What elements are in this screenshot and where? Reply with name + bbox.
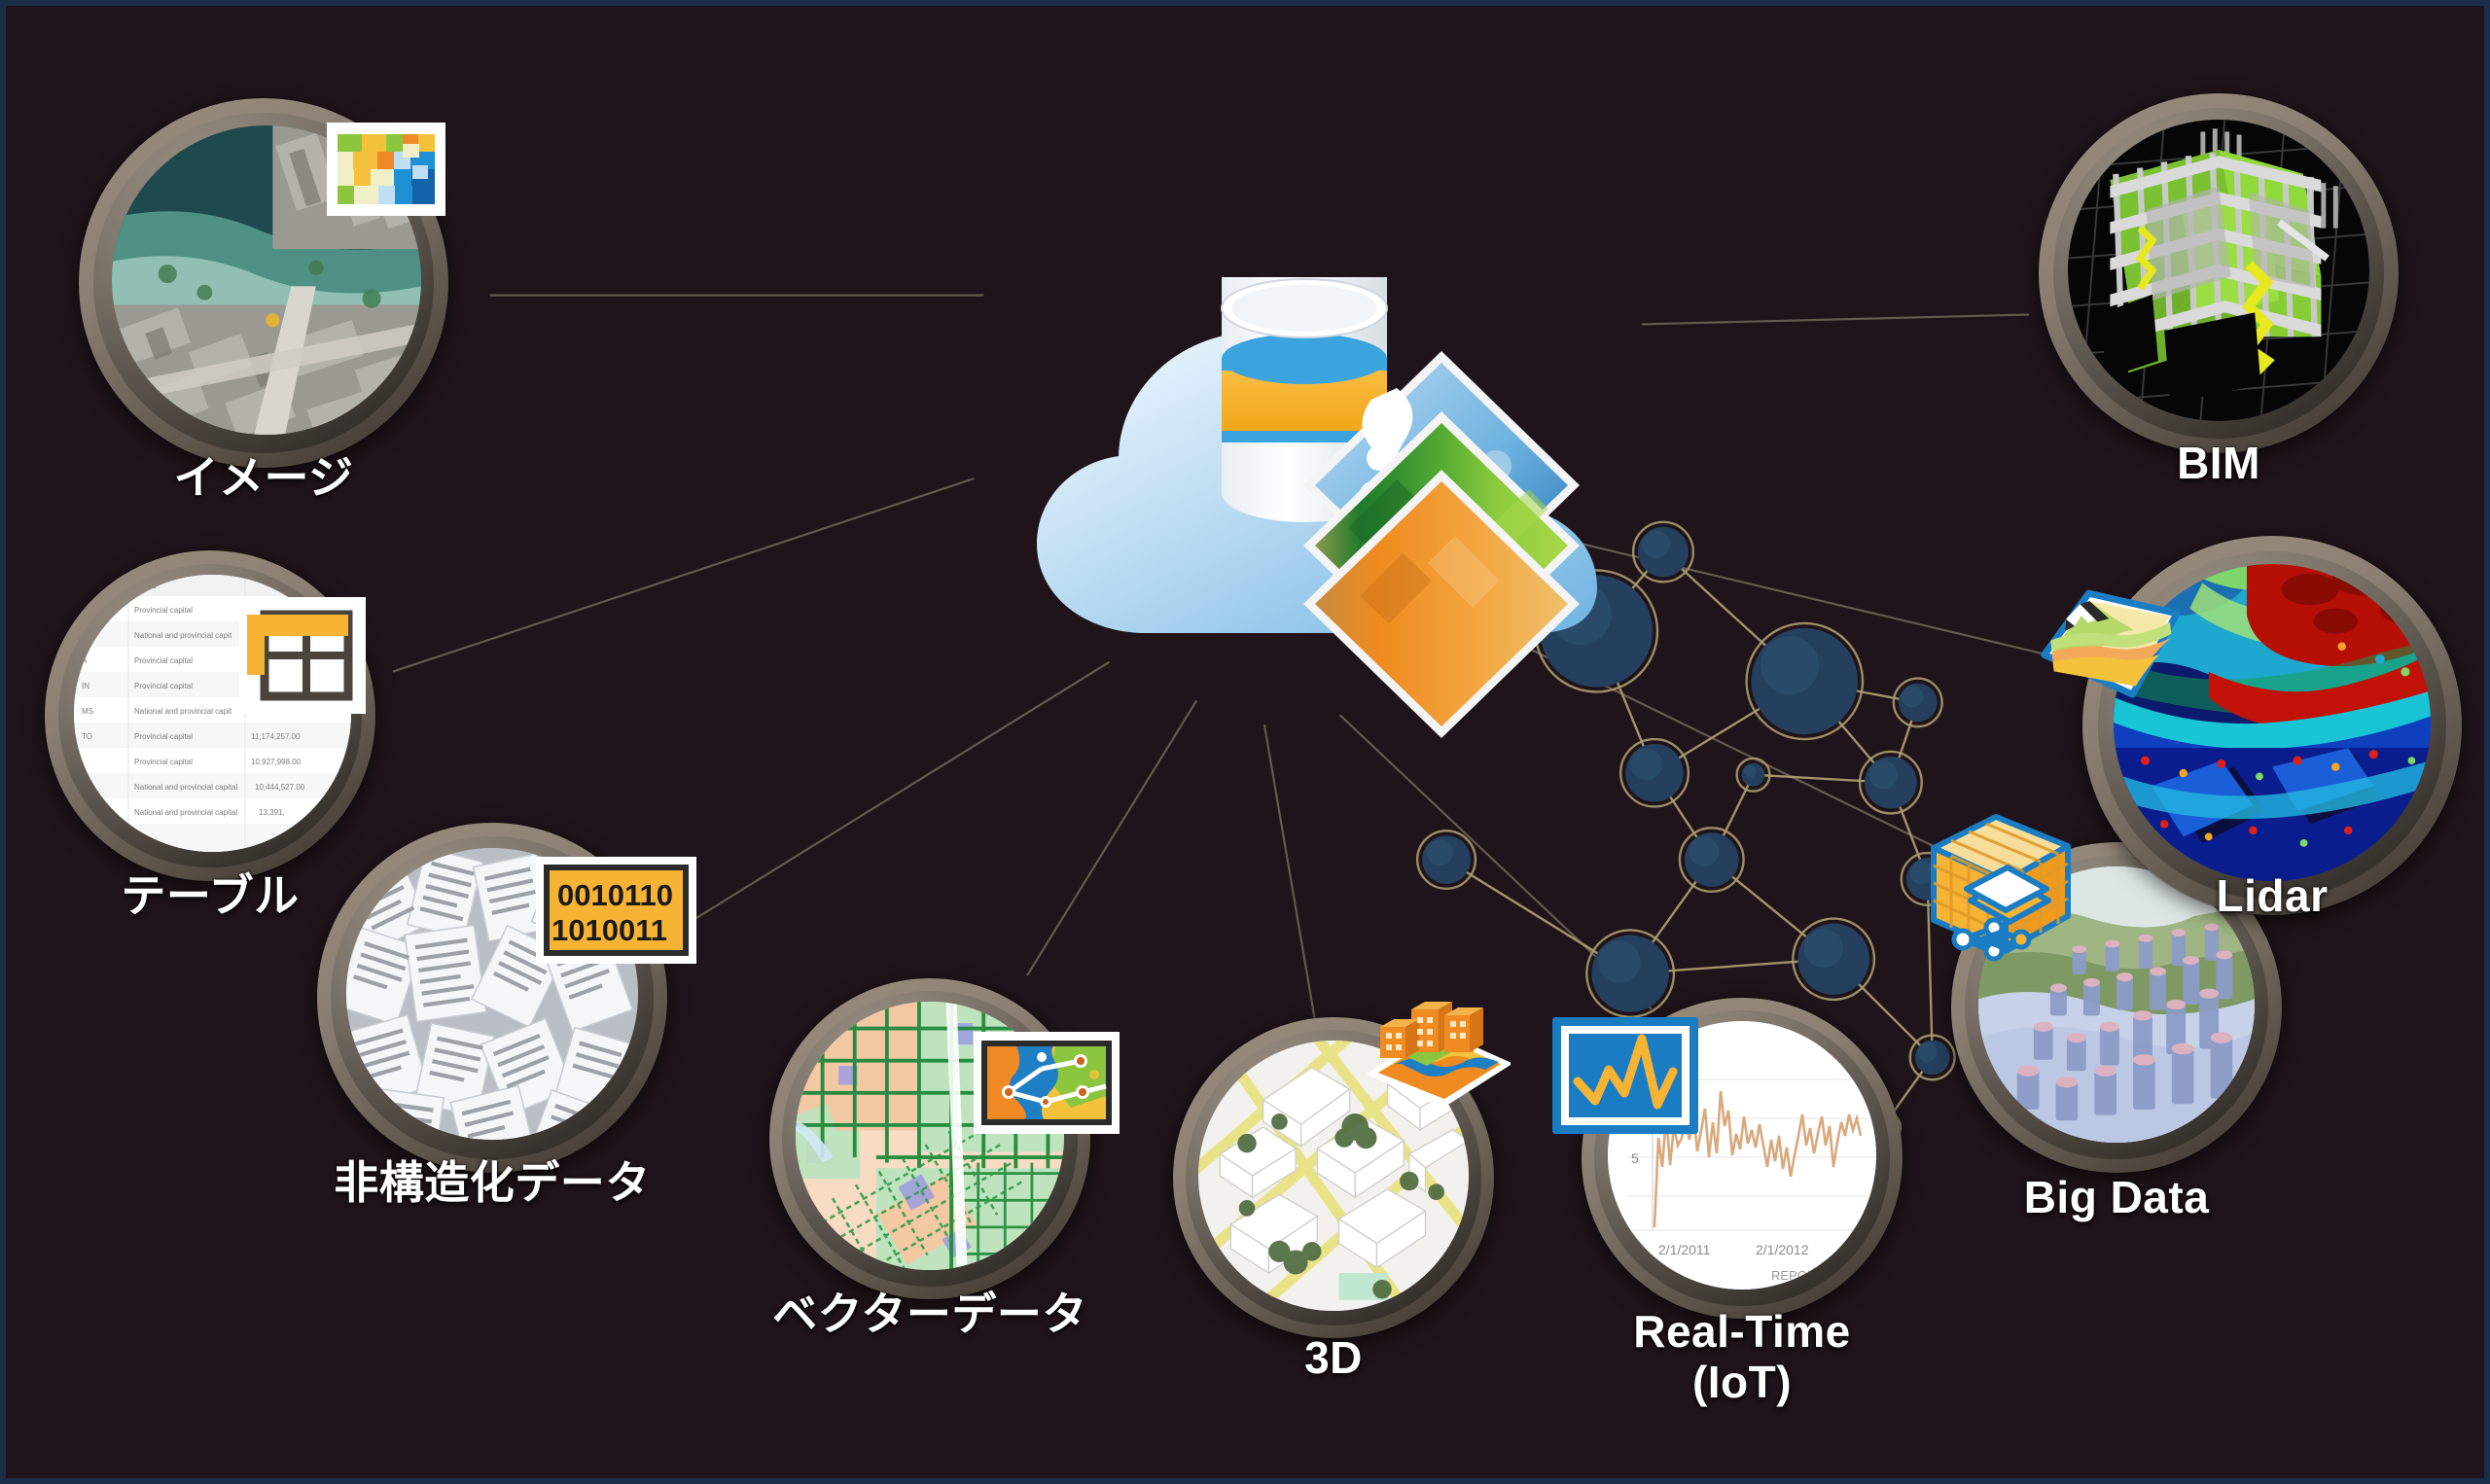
svg-text:10,927,998.00: 10,927,998.00 [251, 758, 302, 766]
svg-text:Provincial capital: Provincial capital [134, 758, 193, 766]
svg-text:MS: MS [82, 707, 93, 716]
chart-xtick-1: 2/1/2011 [1658, 1242, 1711, 1257]
svg-text:Provincial capital: Provincial capital [134, 732, 193, 741]
3d-buildings-icon [1363, 990, 1511, 1109]
svg-text:National and provincial capita: National and provincial capital [134, 783, 238, 792]
node-label-unstructured: 非構造化データ [254, 1158, 730, 1209]
node-realtime[interactable]: 15 10 5 2/1/2011 2/1/2012 2 REPORT [1582, 998, 1903, 1319]
svg-text:IN: IN [82, 682, 89, 690]
link-bim-to-cloud [1642, 314, 2029, 324]
binary-top: 0010110 [557, 878, 673, 912]
node-lidar[interactable]: Lidar [2082, 536, 2462, 915]
node-3d[interactable]: 3D [1173, 1017, 1494, 1338]
network-node-highlight [1744, 765, 1757, 778]
svg-text:13,391,: 13,391, [259, 808, 285, 817]
binary-bottom: 1010011 [551, 913, 667, 947]
elevation-terrain-icon [2034, 580, 2189, 706]
node-label-3d: 3D [1173, 1333, 1494, 1384]
node-label-bigdata: Big Data [1941, 1173, 2292, 1223]
chart-xtick-2: 2/1/2012 [1756, 1242, 1809, 1257]
svg-text:National and provincial capita: National and provincial capital [134, 808, 238, 817]
link-table-to-cloud [393, 478, 974, 671]
network-node-highlight [1426, 839, 1452, 866]
network-node-highlight [1918, 1042, 1938, 1062]
node-label-bim: BIM [2039, 439, 2399, 489]
network-node-highlight [1598, 940, 1641, 983]
svg-text:10,444,527.00: 10,444,527.00 [255, 783, 305, 792]
network-node-highlight [1804, 929, 1844, 968]
node-unstructured[interactable]: 0010110 1010011 非構造化データ [317, 823, 667, 1173]
link-3d-to-cloud [1264, 724, 1315, 1019]
node-label-lidar: Lidar [2078, 871, 2467, 922]
node-vector[interactable]: ベクターデータ [769, 978, 1090, 1299]
vector-map-icon [974, 1032, 1120, 1134]
node-label-image: イメージ [79, 453, 448, 504]
svg-text:Provincial capital: Provincial capital [134, 682, 193, 690]
raster-grid-icon [327, 123, 445, 216]
svg-text:11,174,257.00: 11,174,257.00 [251, 732, 301, 741]
svg-text:Provincial capital: Provincial capital [134, 656, 193, 665]
table-grid-icon [239, 597, 366, 714]
network-node-highlight [1902, 686, 1923, 707]
svg-text:National and provincial capit: National and provincial capit [134, 707, 232, 716]
node-bim[interactable]: BIM [2039, 93, 2399, 453]
svg-text:National and provincial capit: National and provincial capit [134, 631, 232, 640]
node-label-realtime: Real-Time (IoT) [1543, 1307, 1941, 1407]
svg-text:5: 5 [1631, 1150, 1639, 1166]
network-node-highlight [1690, 836, 1720, 866]
binary-code-icon: 0010110 1010011 [536, 857, 696, 964]
svg-text:TO: TO [82, 732, 92, 741]
network-node-highlight [1869, 760, 1899, 789]
cloud-data-platform[interactable] [940, 215, 1659, 760]
slide-canvas: イメージ Status Provincial capital9,849,213.… [0, 0, 2490, 1484]
node-image[interactable]: イメージ [79, 98, 448, 468]
line-chart-icon [1552, 1017, 1698, 1134]
bim-building-model-thumbnail [2068, 120, 2369, 421]
svg-text:Provincial capital: Provincial capital [134, 606, 193, 615]
node-label-vector: ベクターデータ [692, 1290, 1168, 1340]
data-cube-icon [1912, 803, 2097, 978]
network-node-highlight [1761, 636, 1819, 694]
